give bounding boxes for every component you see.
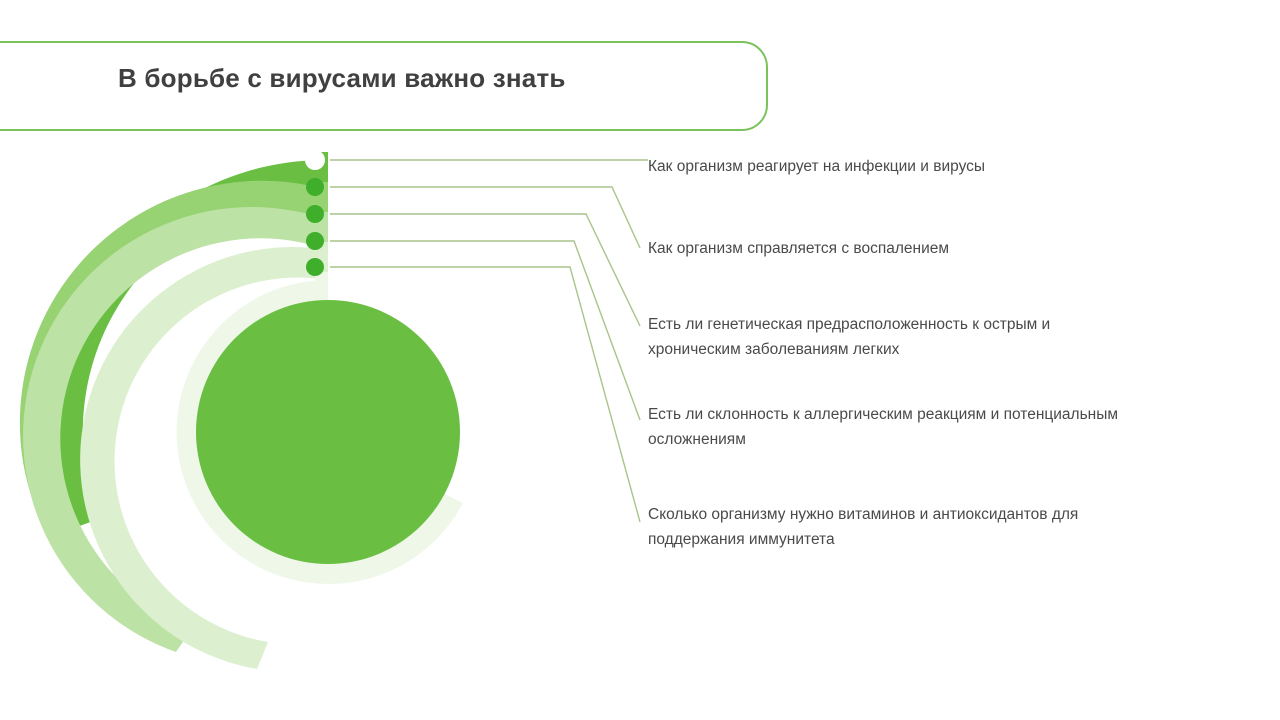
list-item-1: Как организм реагирует на инфекции и вир… (648, 154, 1138, 179)
concentric-arc-diagram (0, 130, 660, 720)
bullet-dot-3[interactable] (306, 205, 324, 223)
center-circle (196, 300, 460, 564)
bullet-dot-5[interactable] (306, 258, 324, 276)
list-item-2: Как организм справляется с воспалением (648, 236, 1138, 261)
bullet-dot-4[interactable] (306, 232, 324, 250)
bullet-dot-2[interactable] (306, 178, 324, 196)
connector-line-2 (330, 187, 640, 248)
bullet-dot-1[interactable] (305, 150, 325, 170)
connector-line-3 (330, 214, 640, 326)
list-item-3: Есть ли генетическая предрасположенность… (648, 312, 1138, 362)
page-title: В борьбе с вирусами важно знать (118, 63, 566, 94)
list-item-5: Сколько организму нужно витаминов и анти… (648, 502, 1138, 552)
list-item-4: Есть ли склонность к аллергическим реакц… (648, 402, 1138, 452)
